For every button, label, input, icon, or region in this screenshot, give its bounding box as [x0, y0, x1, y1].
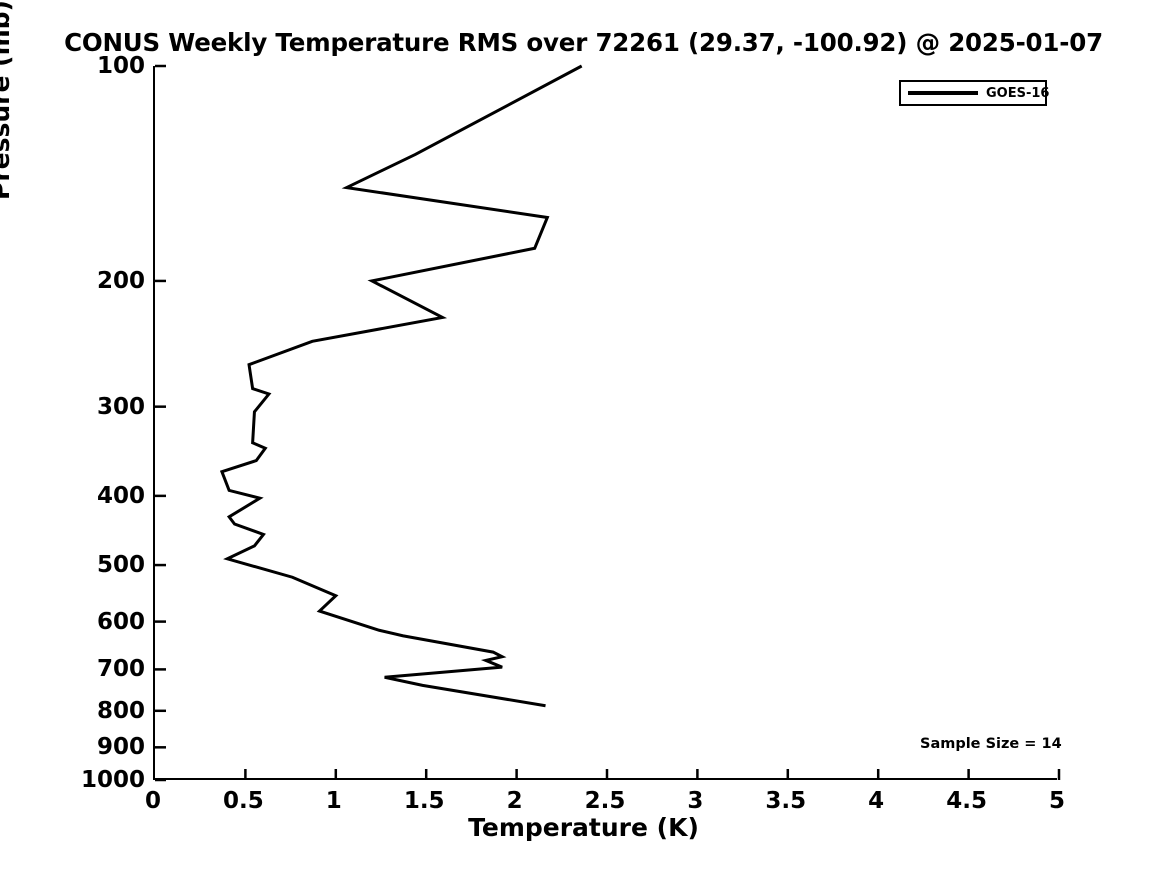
- legend: GOES-16: [899, 80, 1047, 106]
- x-tick-label: 4.5: [946, 788, 987, 814]
- x-tick-label: 1.5: [404, 788, 445, 814]
- plot-svg: [153, 64, 1061, 782]
- plot-area: [153, 66, 1057, 780]
- y-tick-label: 300: [97, 394, 145, 420]
- x-tick-label: 1: [326, 788, 342, 814]
- y-tick-label: 400: [97, 483, 145, 509]
- chart-root: CONUS Weekly Temperature RMS over 72261 …: [0, 0, 1167, 875]
- legend-label-goes-16: GOES-16: [986, 86, 1049, 101]
- data-series-group: [222, 66, 582, 706]
- y-tick-label: 800: [97, 698, 145, 724]
- sample-size-annotation: Sample Size = 14: [920, 736, 1062, 752]
- x-tick-label: 0: [145, 788, 161, 814]
- x-axis-label: Temperature (K): [0, 813, 1167, 842]
- x-tick-label: 2: [507, 788, 523, 814]
- x-tick-label: 3.5: [765, 788, 806, 814]
- legend-line-swatch-goes-16: [908, 91, 978, 95]
- y-axis-tick-marks: [155, 66, 166, 780]
- y-tick-label: 600: [97, 609, 145, 635]
- y-axis-label: Pressure (mb): [0, 0, 15, 200]
- x-tick-label: 0.5: [223, 788, 264, 814]
- x-tick-label: 4: [868, 788, 884, 814]
- y-tick-label: 500: [97, 552, 145, 578]
- y-tick-label: 1000: [81, 767, 145, 793]
- y-tick-label: 900: [97, 734, 145, 760]
- chart-title: CONUS Weekly Temperature RMS over 72261 …: [0, 28, 1167, 57]
- data-line-goes-16: [222, 66, 582, 706]
- x-axis-tick-marks: [245, 769, 1059, 780]
- x-tick-label: 3: [687, 788, 703, 814]
- x-tick-label: 2.5: [585, 788, 626, 814]
- y-tick-label: 200: [97, 268, 145, 294]
- x-tick-label: 5: [1049, 788, 1065, 814]
- y-tick-label: 700: [97, 656, 145, 682]
- y-tick-label: 100: [97, 53, 145, 79]
